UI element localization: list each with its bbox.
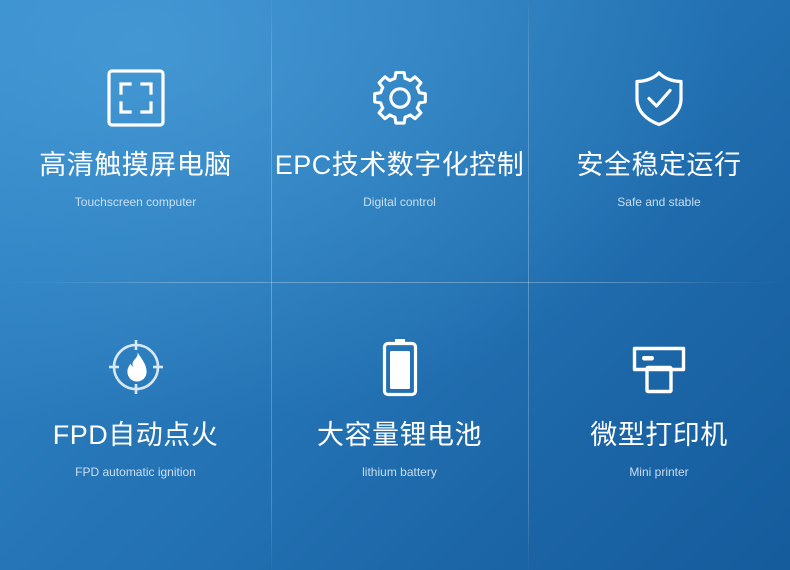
- feature-grid: 高清触摸屏电脑 Touchscreen computer EPC技术数字化控制 …: [0, 0, 790, 570]
- feature-subtitle: Safe and stable: [617, 195, 700, 209]
- feature-subtitle: Touchscreen computer: [75, 195, 196, 209]
- feature-subtitle: FPD automatic ignition: [75, 465, 196, 479]
- scan-frame-icon: [104, 66, 168, 130]
- battery-icon: [368, 335, 432, 399]
- feature-title: FPD自动点火: [53, 421, 219, 451]
- shield-check-icon: [627, 66, 691, 130]
- feature-card-safe-stable[interactable]: 安全稳定运行 Safe and stable: [528, 0, 790, 282]
- feature-title: 安全稳定运行: [577, 151, 742, 181]
- feature-card-fpd-ignition[interactable]: FPD自动点火 FPD automatic ignition: [0, 282, 271, 570]
- flame-target-icon: [104, 335, 168, 399]
- feature-panel: 高清触摸屏电脑 Touchscreen computer EPC技术数字化控制 …: [0, 0, 790, 570]
- feature-subtitle: lithium battery: [362, 465, 437, 479]
- feature-subtitle: Digital control: [363, 195, 436, 209]
- feature-title: 微型打印机: [590, 421, 728, 451]
- feature-title: 高清触摸屏电脑: [39, 151, 232, 181]
- feature-card-mini-printer[interactable]: 微型打印机 Mini printer: [528, 282, 790, 570]
- gear-icon: [368, 66, 432, 130]
- printer-icon: [627, 335, 691, 399]
- feature-title: EPC技术数字化控制: [275, 151, 525, 181]
- feature-title: 大容量锂电池: [317, 421, 482, 451]
- feature-subtitle: Mini printer: [629, 465, 688, 479]
- feature-card-lithium-battery[interactable]: 大容量锂电池 lithium battery: [271, 282, 528, 570]
- feature-card-touchscreen-computer[interactable]: 高清触摸屏电脑 Touchscreen computer: [0, 0, 271, 282]
- feature-card-digital-control[interactable]: EPC技术数字化控制 Digital control: [271, 0, 528, 282]
